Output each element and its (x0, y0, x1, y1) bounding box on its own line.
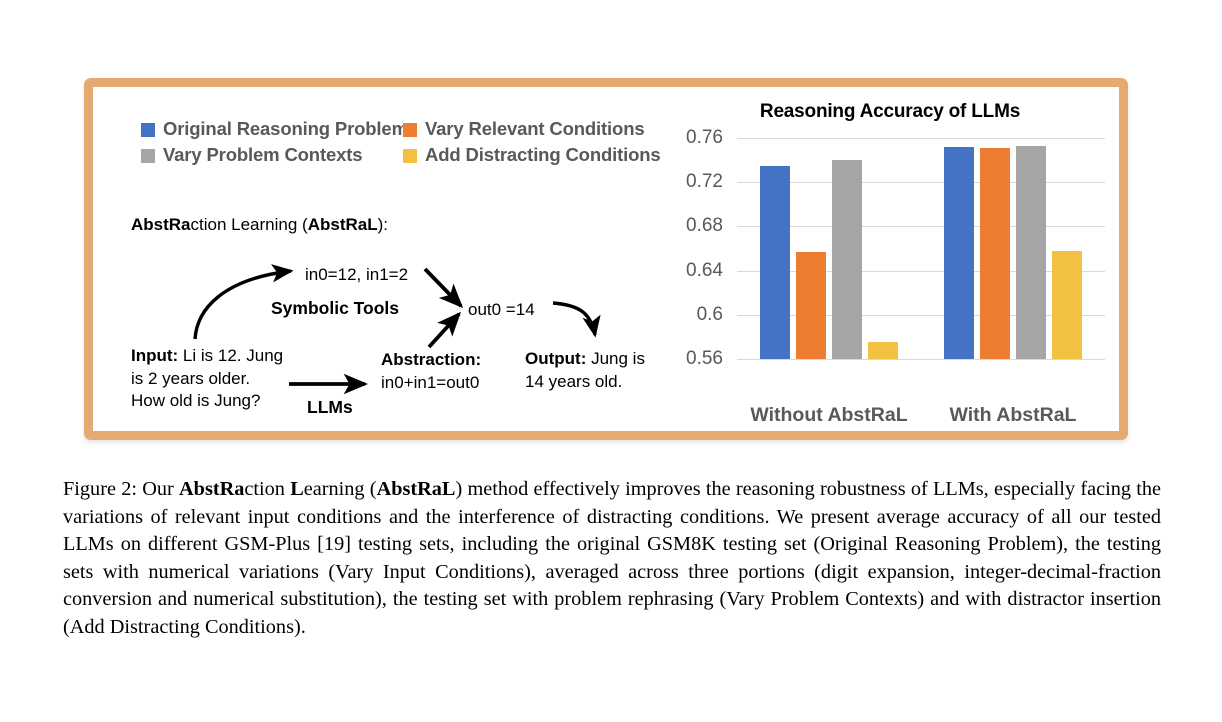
caption-part-2: ction (244, 478, 290, 500)
caption-part-1: AbstRa (179, 478, 244, 500)
chart-bar (868, 342, 898, 359)
caption-part-6: ) method effectively improves the reason… (63, 478, 1161, 638)
caption-part-5: AbstRaL (377, 478, 456, 500)
legend-swatch-yellow (403, 149, 417, 163)
legend-swatch-orange (403, 123, 417, 137)
caption-part-3: L (290, 478, 304, 500)
chart-gridline (737, 271, 1105, 272)
chart-xtick-label: With AbstRaL (921, 404, 1105, 427)
arrow-out-to-output (553, 303, 595, 335)
chart-bar (760, 166, 790, 359)
diagram-title-bold-abstral: AbstRaL (308, 215, 378, 234)
chart-bar (944, 147, 974, 359)
chart-bar (1052, 251, 1082, 359)
diagram-title: AbstRaction Learning (AbstRaL): (131, 215, 388, 235)
reasoning-accuracy-chart: Reasoning Accuracy of LLMs 0.760.720.680… (665, 101, 1115, 435)
chart-gridline (737, 138, 1105, 139)
figure-caption: Figure 2: Our AbstRaction Learning (Abst… (63, 476, 1161, 641)
chart-ytick-label: 0.68 (663, 215, 723, 237)
legend-item-add-distracting-conditions: Add Distracting Conditions (403, 146, 661, 165)
diagram-node-input: Input: Li is 12. Jung is 2 years older. … (131, 345, 283, 413)
chart-legend: Original Reasoning Problem Vary Relevant… (141, 120, 701, 171)
arrow-symbols-to-out (425, 269, 461, 306)
figure-inner-panel: Original Reasoning Problem Vary Relevant… (93, 87, 1119, 431)
chart-bar (1016, 146, 1046, 359)
chart-ytick-label: 0.56 (663, 348, 723, 370)
chart-bar (980, 148, 1010, 359)
legend-label-vary-relevant-conditions: Vary Relevant Conditions (425, 120, 644, 139)
chart-gridline (737, 182, 1105, 183)
figure-frame: Original Reasoning Problem Vary Relevant… (84, 78, 1128, 440)
legend-row-2: Vary Problem Contexts Add Distracting Co… (141, 146, 701, 165)
diagram-label-symbolic-tools: Symbolic Tools (271, 297, 399, 320)
diagram-node-symbol-values: in0=12, in1=2 (305, 264, 408, 287)
chart-xtick-label: Without AbstRaL (737, 404, 921, 427)
chart-plot-area: 0.760.720.680.640.60.56Without AbstRaLWi… (737, 138, 1105, 359)
chart-ytick-label: 0.76 (663, 127, 723, 149)
diagram-node-output-value: out0 =14 (468, 299, 535, 322)
diagram-node-abstraction-label: Abstraction: (381, 350, 481, 369)
diagram-title-mid: ction Learning ( (191, 215, 308, 234)
chart-ytick-label: 0.72 (663, 171, 723, 193)
diagram-node-abstraction: Abstraction:in0+in1=out0 (381, 349, 481, 394)
legend-row-1: Original Reasoning Problem Vary Relevant… (141, 120, 701, 139)
legend-label-original-reasoning-problem: Original Reasoning Problem (163, 120, 408, 139)
diagram-node-input-label: Input: (131, 346, 178, 365)
chart-title: Reasoning Accuracy of LLMs (665, 101, 1115, 123)
chart-gridline (737, 315, 1105, 316)
caption-part-4: earning ( (304, 478, 377, 500)
legend-item-vary-relevant-conditions: Vary Relevant Conditions (403, 120, 644, 139)
diagram-title-suffix: ): (378, 215, 388, 234)
legend-swatch-blue (141, 123, 155, 137)
diagram-node-output-label: Output: (525, 349, 586, 368)
diagram-node-abstraction-text: in0+in1=out0 (381, 373, 479, 392)
caption-part-0: Figure 2: Our (63, 478, 179, 500)
chart-bar (832, 160, 862, 359)
chart-ytick-label: 0.6 (663, 304, 723, 326)
abstral-pipeline-diagram: AbstRaction Learning (AbstRaL): (93, 187, 673, 449)
legend-item-vary-problem-contexts: Vary Problem Contexts (141, 146, 403, 165)
arrow-abstraction-to-out (429, 314, 459, 347)
legend-label-add-distracting-conditions: Add Distracting Conditions (425, 146, 661, 165)
diagram-title-bold-abstra: AbstRa (131, 215, 191, 234)
legend-label-vary-problem-contexts: Vary Problem Contexts (163, 146, 362, 165)
chart-ytick-label: 0.64 (663, 260, 723, 282)
diagram-node-output: Output: Jung is 14 years old. (525, 348, 645, 393)
chart-gridline (737, 226, 1105, 227)
chart-gridline (737, 359, 1105, 360)
chart-bar (796, 252, 826, 359)
legend-swatch-gray (141, 149, 155, 163)
diagram-label-llms: LLMs (307, 396, 353, 419)
legend-item-original-reasoning-problem: Original Reasoning Problem (141, 120, 403, 139)
